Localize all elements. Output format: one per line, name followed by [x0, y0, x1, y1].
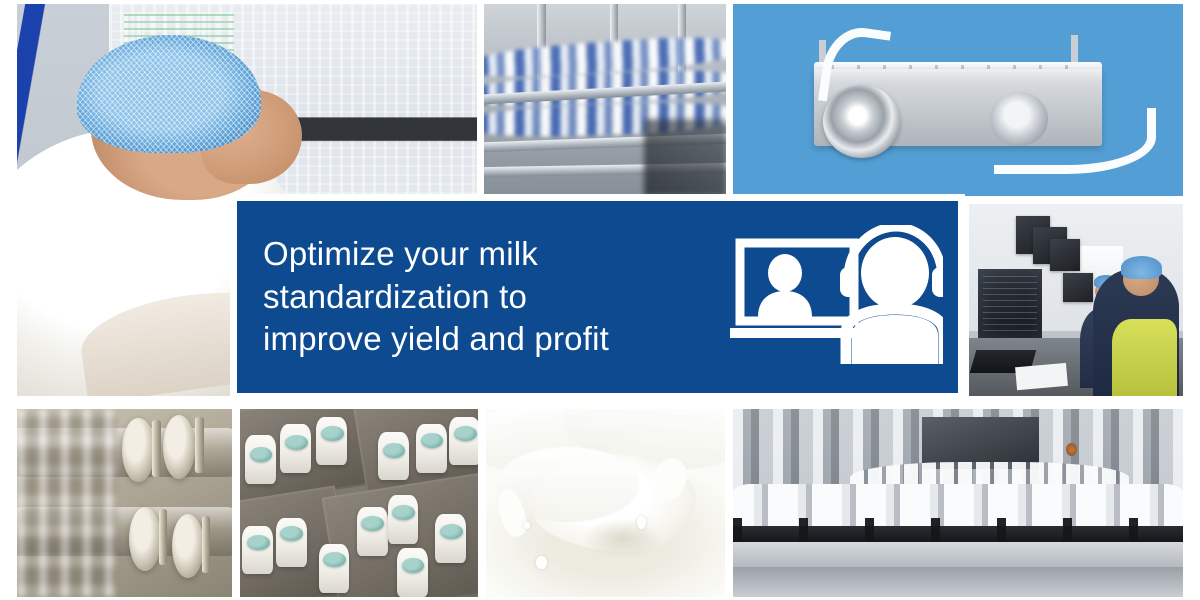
bottle-cap — [280, 526, 303, 541]
milk-bottle — [388, 495, 419, 544]
valve-disc — [163, 415, 195, 479]
valve-manifold-photo: Rows of stainless steel hygienic valves … — [17, 409, 232, 597]
valve-clamp — [159, 509, 168, 565]
milk-bottle — [397, 548, 428, 597]
hi-vis-vest — [1112, 319, 1176, 396]
operator-a-hairnet — [1121, 256, 1162, 279]
bottle-cap — [250, 447, 273, 462]
bottle-cap — [247, 535, 270, 550]
bottle-cap — [383, 443, 406, 458]
milk-bottle — [357, 507, 388, 556]
upper-jug-row — [850, 462, 1129, 485]
bottle-cap — [392, 505, 415, 520]
milk-bottle — [242, 526, 273, 575]
device-port-right — [990, 92, 1049, 146]
device-port-left — [823, 85, 900, 158]
machine-base — [733, 567, 1183, 597]
valve-disc — [172, 514, 204, 578]
milk-shadow — [582, 518, 663, 559]
valve-clamp — [152, 420, 161, 476]
inline-analyzer-product-photo: Stainless steel inline measurement devic… — [733, 4, 1183, 196]
desk-monitor — [978, 269, 1042, 338]
bottling-conveyor-photo: Blue and white dairy packages moving at … — [484, 4, 726, 196]
wall-monitor — [1063, 273, 1093, 302]
wall-monitor — [1050, 239, 1080, 272]
milk-bottle — [416, 424, 447, 473]
milk-bottles-in-crates-photo: Milk bottles with teal caps packed in gr… — [240, 409, 478, 597]
valve-disc — [129, 507, 161, 571]
milk-bottle — [316, 417, 347, 466]
milk-droplet — [536, 556, 547, 569]
webinar-presenter-icon — [718, 225, 953, 369]
marketing-banner-image: Plant operator in blue hairnet and white… — [0, 0, 1200, 600]
operators-at-workstation-photo: Two operators in hairnets and hi-vis ves… — [969, 204, 1183, 396]
milk-bottle — [435, 514, 466, 563]
bottle-cap — [454, 426, 477, 441]
milk-bottle — [449, 417, 478, 466]
conveyor-frame — [733, 542, 1183, 566]
webinar-banner: Optimize your milk standardization to im… — [237, 201, 958, 393]
banner-headline: Optimize your milk standardization to im… — [237, 233, 718, 362]
valves-blurred-foreground — [17, 409, 116, 597]
valve-disc — [122, 418, 154, 482]
valve-clamp — [195, 417, 204, 473]
bottle-cap — [402, 558, 425, 573]
desk-paper — [1015, 363, 1068, 390]
bottle-cap — [323, 552, 346, 567]
valve-clamp — [202, 516, 211, 572]
bottle-cap — [321, 426, 344, 441]
milk-splash-photo: Close up of splashing fresh white milk — [486, 409, 725, 597]
bottle-cap — [440, 524, 463, 539]
bottle-filling-line-photo: White plastic milk jugs travelling along… — [733, 409, 1183, 597]
status-lamp — [1066, 443, 1077, 456]
conveyor-shadow — [644, 119, 726, 196]
